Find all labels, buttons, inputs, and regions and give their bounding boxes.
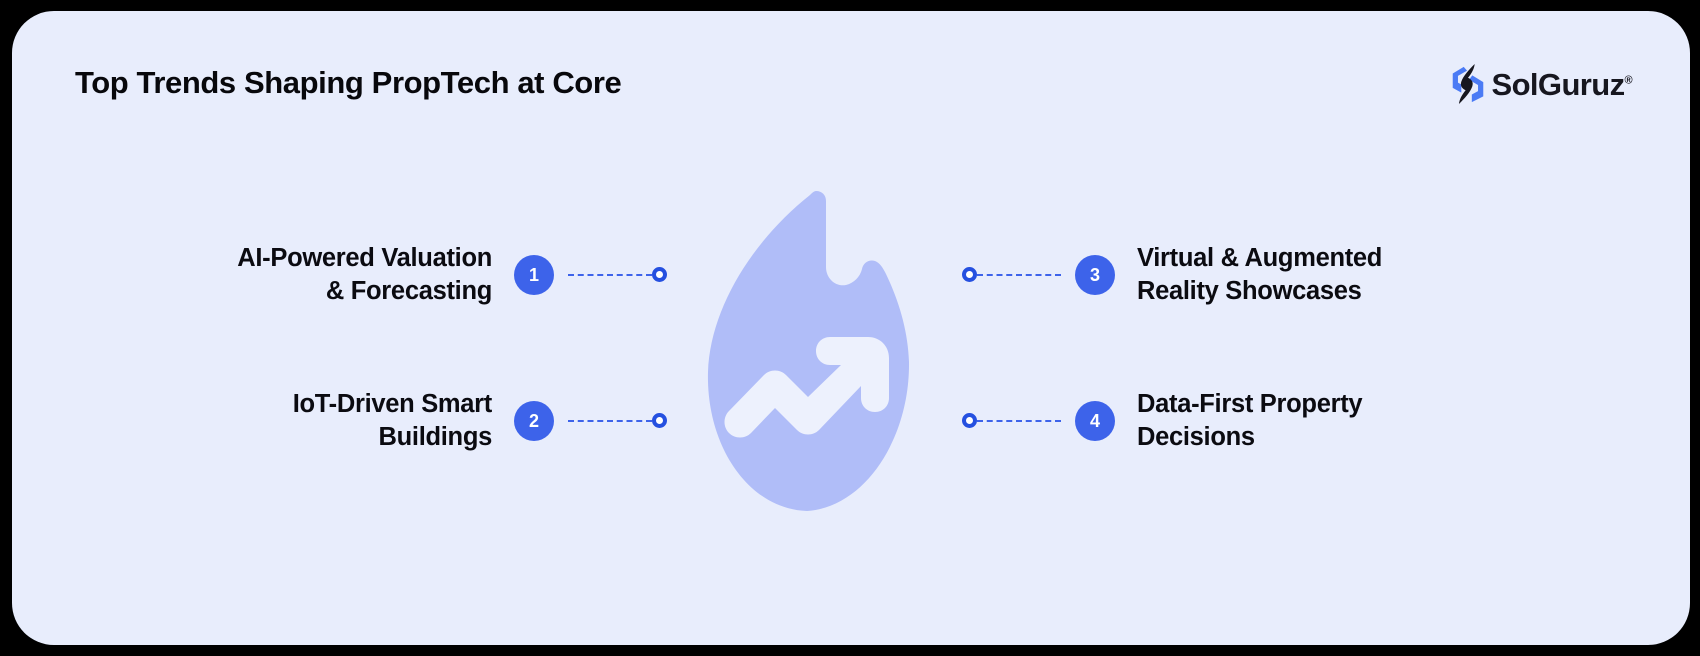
connector-ring-1 [652, 267, 667, 282]
flame-with-trending-up-arrow-icon [700, 189, 925, 514]
connector-4 [962, 413, 1061, 429]
infographic-stage: Top Trends Shaping PropTech at Core SolG… [0, 0, 1700, 656]
infographic-card: Top Trends Shaping PropTech at Core SolG… [12, 11, 1690, 645]
trend-label-3-line2: Reality Showcases [1137, 275, 1382, 308]
trend-label-2: IoT-Driven Smart Buildings [293, 388, 492, 453]
trend-label-2-line1: IoT-Driven Smart [293, 388, 492, 421]
registered-mark: ® [1624, 74, 1632, 86]
page-title: Top Trends Shaping PropTech at Core [75, 65, 621, 101]
connector-dots-2 [568, 420, 652, 422]
trend-label-4-line1: Data-First Property [1137, 388, 1362, 421]
connector-ring-3 [962, 267, 977, 282]
trend-badge-1[interactable]: 1 [514, 255, 554, 295]
trend-item-1[interactable]: AI-Powered Valuation & Forecasting 1 [142, 242, 667, 307]
brand-logo: SolGuruz® [1449, 63, 1633, 105]
trend-item-3[interactable]: 3 Virtual & Augmented Reality Showcases [962, 242, 1492, 307]
trend-item-4[interactable]: 4 Data-First Property Decisions [962, 388, 1492, 453]
trend-badge-3[interactable]: 3 [1075, 255, 1115, 295]
connector-dots-3 [977, 274, 1061, 276]
trend-label-1-line1: AI-Powered Valuation [237, 242, 492, 275]
trend-label-4: Data-First Property Decisions [1137, 388, 1362, 453]
trend-label-3-line1: Virtual & Augmented [1137, 242, 1382, 275]
trend-label-2-line2: Buildings [293, 421, 492, 454]
trend-badge-4[interactable]: 4 [1075, 401, 1115, 441]
connector-ring-2 [652, 413, 667, 428]
trend-label-4-line2: Decisions [1137, 421, 1362, 454]
trend-badge-2[interactable]: 2 [514, 401, 554, 441]
trend-item-2[interactable]: IoT-Driven Smart Buildings 2 [142, 388, 667, 453]
connector-3 [962, 267, 1061, 283]
connector-dots-4 [977, 420, 1061, 422]
connector-2 [568, 413, 667, 429]
brand-name-text: SolGuruz [1492, 67, 1625, 102]
trend-label-3: Virtual & Augmented Reality Showcases [1137, 242, 1382, 307]
connector-1 [568, 267, 667, 283]
connector-dots-1 [568, 274, 652, 276]
solguruz-hexagon-s-logo-icon [1449, 63, 1487, 105]
trend-label-1-line2: & Forecasting [237, 275, 492, 308]
trend-label-1: AI-Powered Valuation & Forecasting [237, 242, 492, 307]
brand-name: SolGuruz® [1492, 69, 1633, 100]
connector-ring-4 [962, 413, 977, 428]
